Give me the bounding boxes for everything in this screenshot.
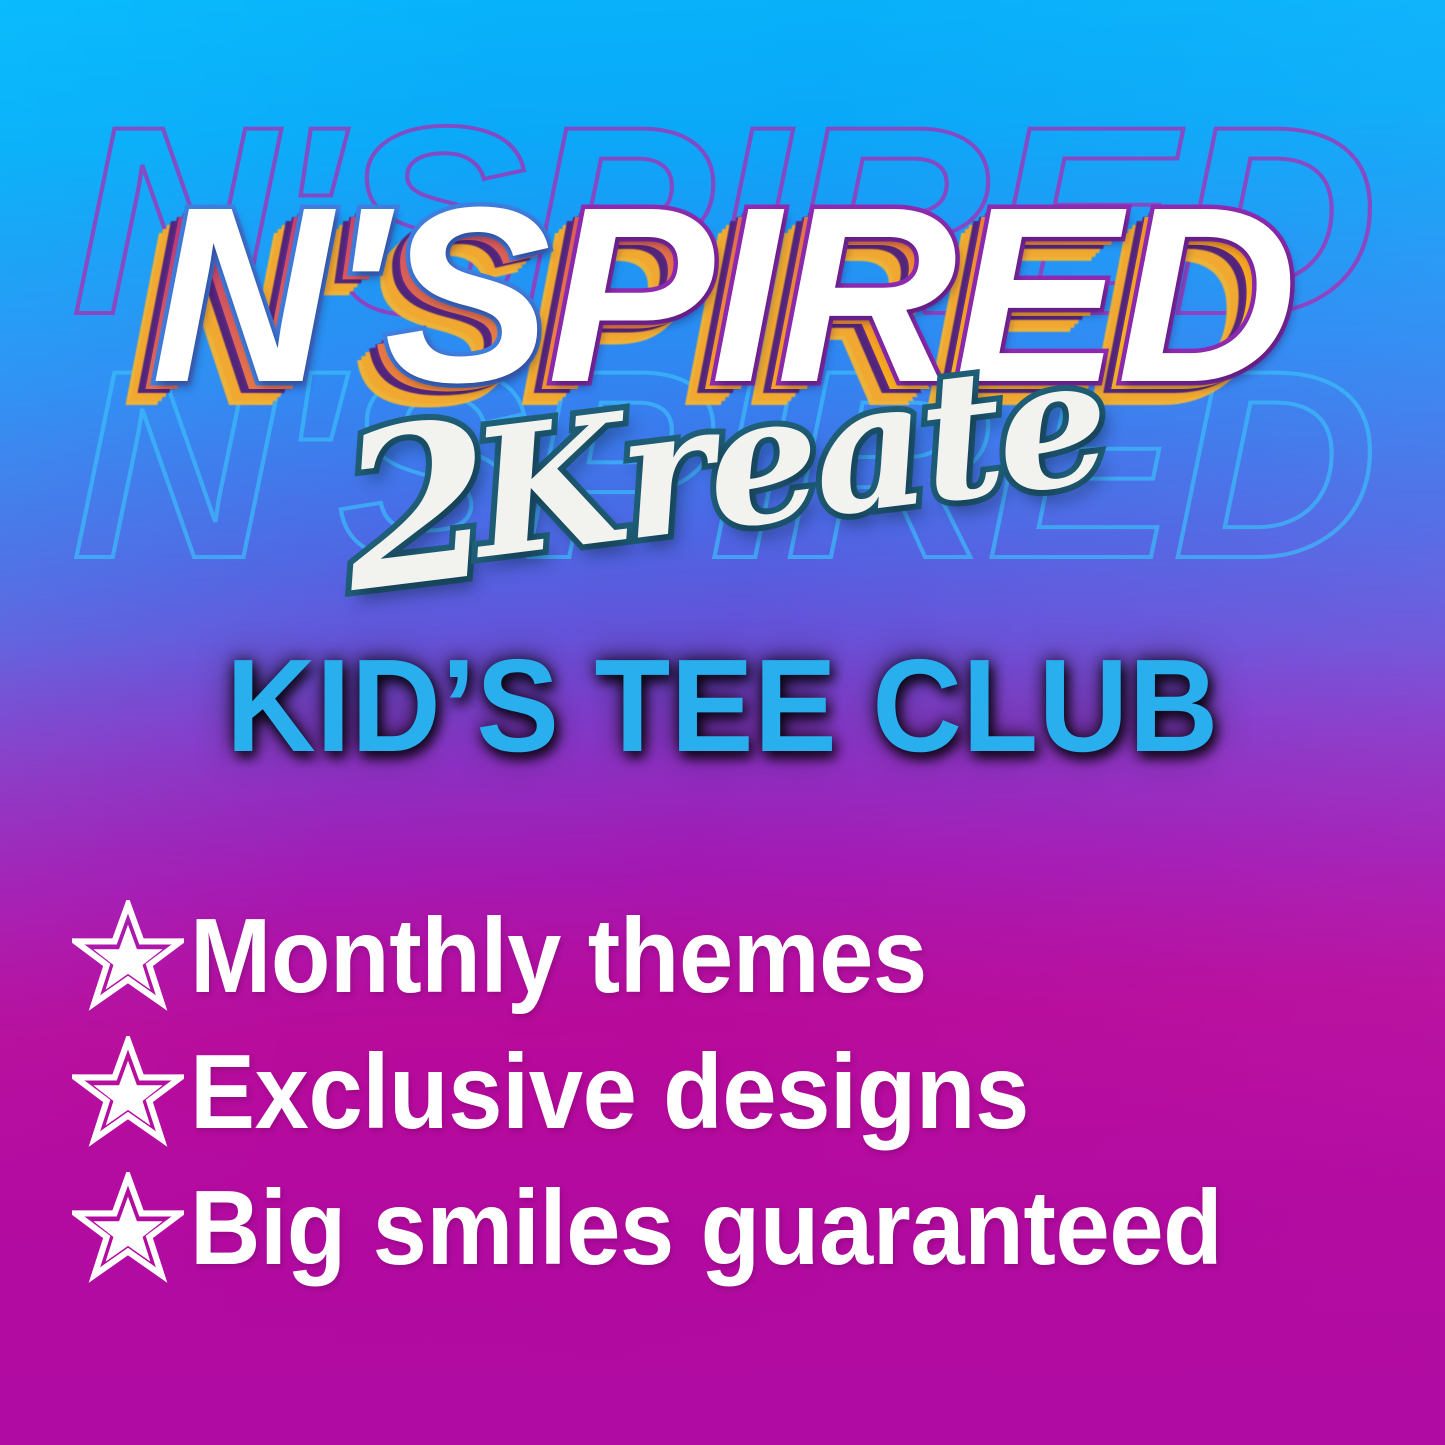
page-title: KID’S TEE CLUB bbox=[43, 640, 1401, 772]
list-item: Big smiles guaranteed bbox=[72, 1172, 1405, 1284]
star-icon bbox=[72, 1172, 184, 1284]
star-icon bbox=[72, 1036, 184, 1148]
star-icon bbox=[72, 900, 184, 1012]
list-item-label: Exclusive designs bbox=[190, 1038, 1029, 1146]
list-item-label: Big smiles guaranteed bbox=[190, 1174, 1222, 1282]
list-item: Exclusive designs bbox=[72, 1036, 1405, 1148]
promo-graphic: N'SPIRED N'SPIRED N'SPIRED N'SPIRED N'SP… bbox=[0, 0, 1445, 1445]
list-item-label: Monthly themes bbox=[190, 902, 927, 1010]
feature-list: Monthly themes Exclusive designs Big smi… bbox=[72, 900, 1405, 1308]
brand-logo: N'SPIRED N'SPIRED N'SPIRED N'SPIRED N'SP… bbox=[0, 60, 1445, 620]
list-item: Monthly themes bbox=[72, 900, 1405, 1012]
